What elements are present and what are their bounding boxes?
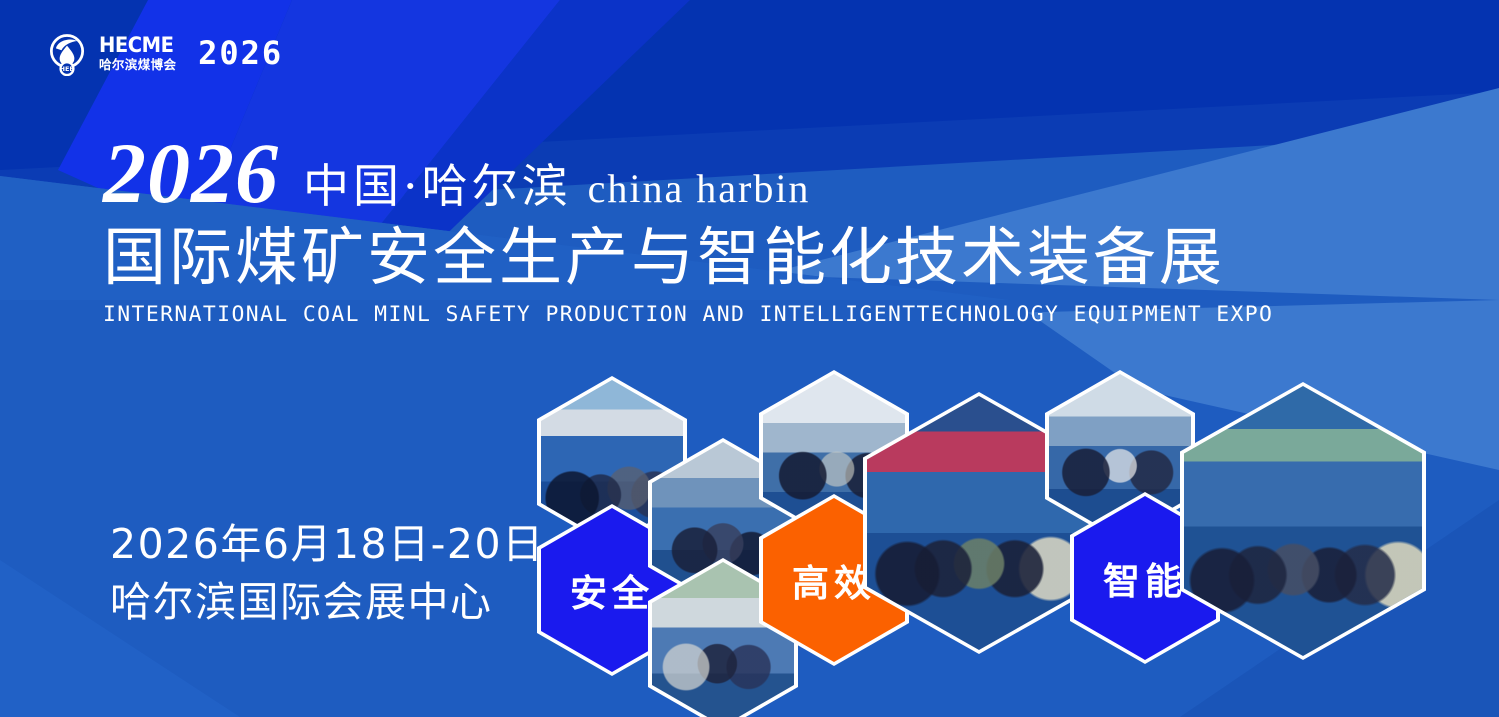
headline-city-chinese: 中国·哈尔滨 bbox=[303, 150, 572, 216]
hexagon-photo-collage: 安全 高效 智能 bbox=[525, 362, 1485, 682]
brand-logo[interactable]: HEB HECME 哈尔滨煤博会 2026 bbox=[44, 30, 283, 76]
headline-title-chinese: 国际煤矿安全生产与智能化技术装备展 bbox=[103, 224, 1393, 292]
headline-city-line: 2026 中国·哈尔滨 china harbin bbox=[103, 133, 1393, 216]
svg-text:HEB: HEB bbox=[60, 65, 75, 73]
logo-wordmark: HECME 哈尔滨煤博会 bbox=[99, 35, 179, 72]
logo-chinese-text: 哈尔滨煤博会 bbox=[99, 59, 179, 72]
event-banner: HEB HECME 哈尔滨煤博会 2026 2026 中国·哈尔滨 china … bbox=[0, 0, 1499, 717]
event-date: 2026年6月18日-20日 bbox=[110, 515, 545, 573]
headline-block: 2026 中国·哈尔滨 china harbin 国际煤矿安全生产与智能化技术装… bbox=[103, 133, 1393, 327]
logo-english-text: HECME bbox=[99, 35, 173, 56]
headline-title-english: INTERNATIONAL COAL MINL SAFETY PRODUCTIO… bbox=[103, 302, 1387, 327]
headline-city-english: china harbin bbox=[588, 165, 811, 212]
logo-year: 2026 bbox=[198, 34, 283, 72]
hecme-emblem-icon: HEB bbox=[44, 30, 90, 76]
event-info: 2026年6月18日-20日 哈尔滨国际会展中心 bbox=[110, 515, 545, 631]
headline-year: 2026 bbox=[103, 133, 279, 215]
event-venue: 哈尔滨国际会展中心 bbox=[110, 573, 545, 631]
